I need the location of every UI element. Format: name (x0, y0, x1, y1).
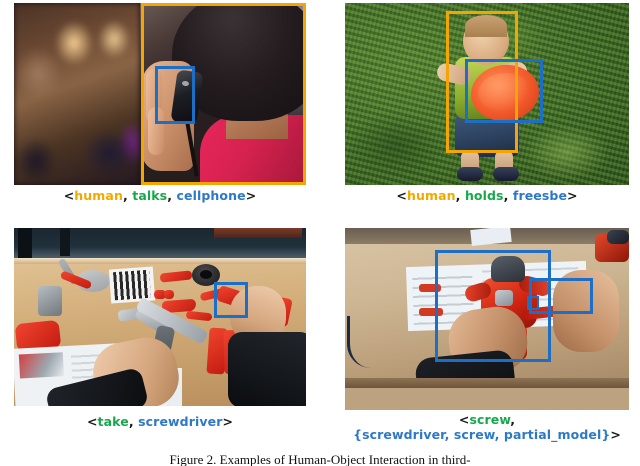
chair-back (60, 228, 70, 256)
bbox-frisbee-blue (465, 59, 543, 123)
caption-objects: screwdriver, screw, partial_model (362, 427, 601, 442)
table-edge (345, 378, 629, 388)
dark-part-right (607, 230, 629, 244)
tire-hub (200, 270, 212, 279)
caption-predicate: take (98, 414, 129, 429)
grey-gearbox-part (38, 286, 62, 316)
caption-cellphone: <human, talks, cellphone> (14, 188, 306, 203)
caption-subject: human (74, 188, 123, 203)
blurred-background (14, 3, 140, 185)
sandal-right (493, 167, 519, 181)
caption-sep: , (123, 188, 132, 203)
caption-close-bracket: > (222, 414, 233, 429)
caption-subject: human (407, 188, 456, 203)
caption-object: freesbe (513, 188, 567, 203)
caption-open-bracket: < (87, 414, 98, 429)
red-shelf (214, 228, 302, 238)
figure-panel-take-screwdriver (14, 228, 306, 406)
bbox-screwdriver-blue (214, 282, 248, 318)
figure-panel-frisbee (345, 3, 629, 185)
caption-open-bracket: < (64, 188, 75, 203)
caption-object: cellphone (177, 188, 246, 203)
caption-objects-close: } (601, 427, 610, 442)
caption-sep: , (129, 414, 138, 429)
caption-open-bracket: < (396, 188, 407, 203)
caption-open-bracket: < (459, 412, 470, 427)
qr-code-card (109, 267, 155, 304)
figure-caption: Figure 2. Examples of Human-Object Inter… (0, 452, 640, 466)
sandal-left (457, 167, 483, 181)
caption-predicate: talks (132, 188, 167, 203)
figure-panel-cellphone (14, 3, 306, 185)
caption-sep: , (504, 188, 513, 203)
bbox-screw-blue (527, 296, 539, 310)
caption-frisbee: <human, holds, freesbe> (345, 188, 629, 203)
photo-take-screwdriver (14, 228, 306, 406)
figure-panel-screw-assembly (345, 228, 629, 410)
red-part (164, 290, 174, 299)
figure-page: <human, talks, cellphone> <human, holds,… (0, 0, 640, 466)
caption-sep: , (510, 412, 515, 427)
caption-predicate: holds (465, 188, 504, 203)
window-frame-left (18, 228, 32, 258)
caption-close-bracket: > (610, 427, 621, 442)
caption-take-screwdriver: <take, screwdriver> (14, 414, 306, 429)
caption-line-1: <screw, (345, 412, 629, 427)
caption-object: screwdriver (138, 414, 222, 429)
table-front (345, 388, 629, 410)
caption-close-bracket: > (567, 188, 578, 203)
caption-sep: , (456, 188, 465, 203)
caption-screw-assembly: <screw, {screwdriver, screw, partial_mod… (345, 412, 629, 442)
right-sleeve (228, 332, 306, 406)
blue-cable (347, 316, 384, 368)
caption-line-2: {screwdriver, screw, partial_model}> (345, 427, 629, 442)
caption-sep: , (167, 188, 176, 203)
caption-objects-open: { (353, 427, 362, 442)
bbox-cellphone-blue (155, 66, 195, 124)
caption-close-bracket: > (246, 188, 257, 203)
caption-predicate: screw (469, 412, 510, 427)
